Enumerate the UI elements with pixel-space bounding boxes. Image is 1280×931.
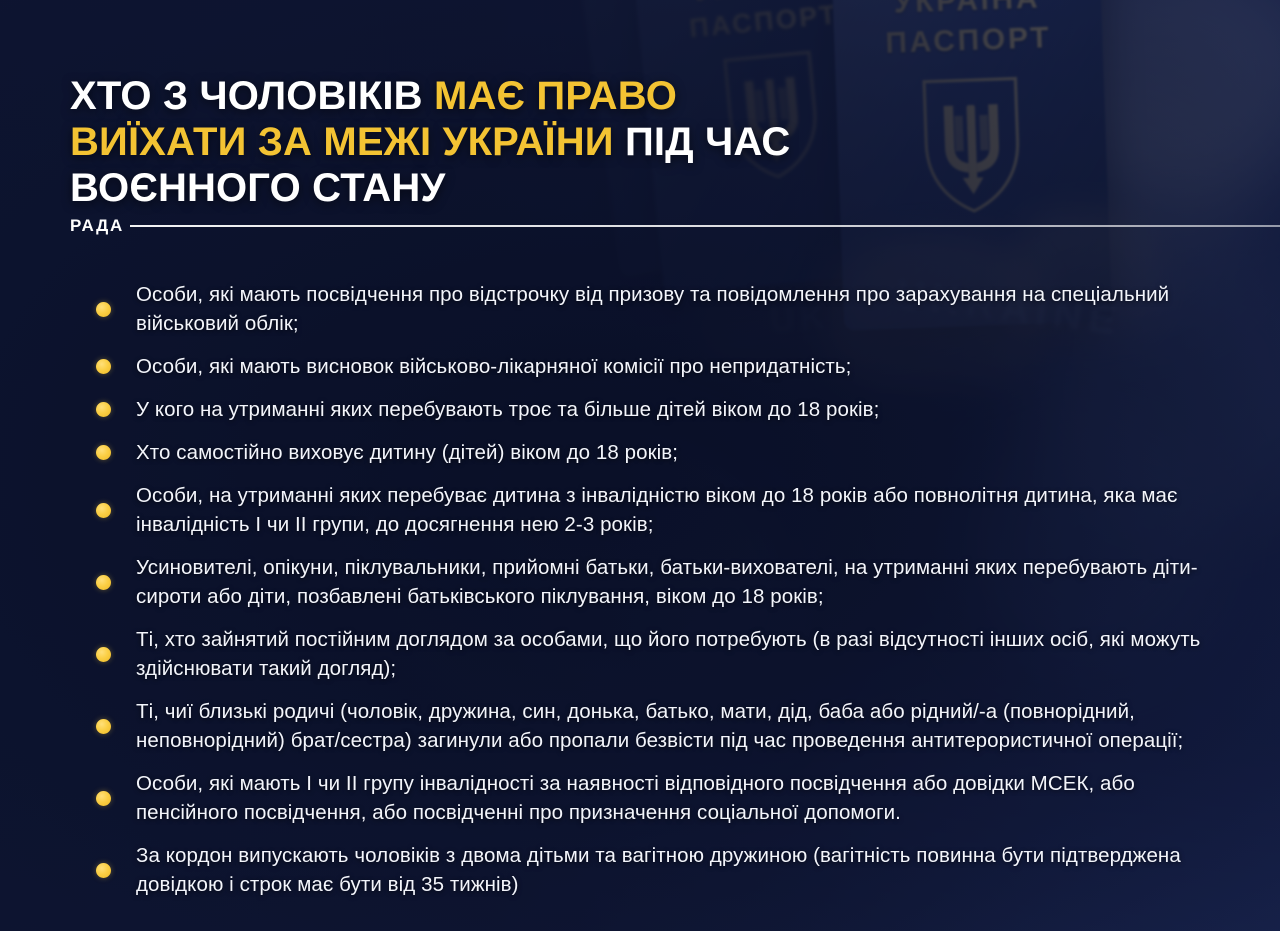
list-item: Хто самостійно виховує дитину (дітей) ві…	[96, 438, 1206, 467]
page-title: ХТО З ЧОЛОВІКІВ МАЄ ПРАВОВИЇХАТИ ЗА МЕЖІ…	[70, 73, 1070, 211]
list-item: Особи, які мають висновок військово-ліка…	[96, 352, 1206, 381]
list-item-text: У кого на утриманні яких перебувають тро…	[136, 395, 1206, 424]
poster-content: ХТО З ЧОЛОВІКІВ МАЄ ПРАВОВИЇХАТИ ЗА МЕЖІ…	[0, 0, 1280, 931]
list-item-text: Особи, які мають I чи II групу інвалідно…	[136, 769, 1206, 827]
page-title-segment: ВИЇХАТИ ЗА МЕЖІ УКРАЇНИ	[70, 120, 625, 164]
list-item: Усиновителі, опікуни, піклувальники, при…	[96, 553, 1206, 611]
list-item: Особи, на утриманні яких перебуває дитин…	[96, 481, 1206, 539]
list-item: У кого на утриманні яких перебувають тро…	[96, 395, 1206, 424]
list-item-text: Ті, чиї близькі родичі (чоловік, дружина…	[136, 697, 1206, 755]
list-item-text: Особи, на утриманні яких перебуває дитин…	[136, 481, 1206, 539]
bullet-dot-icon	[96, 863, 111, 878]
list-item-text: За кордон випускають чоловіків з двома д…	[136, 841, 1206, 899]
list-item-text: Особи, які мають висновок військово-ліка…	[136, 352, 1206, 381]
bullet-dot-icon	[96, 575, 111, 590]
page-title-segment: ВОЄННОГО СТАНУ	[70, 166, 445, 210]
bullet-dot-icon	[96, 302, 111, 317]
list-item: За кордон випускають чоловіків з двома д…	[96, 841, 1206, 899]
page-title-segment: ХТО З ЧОЛОВІКІВ	[70, 74, 434, 118]
bullet-dot-icon	[96, 445, 111, 460]
brand-row: РАДА	[70, 215, 1280, 237]
brand-label: РАДА	[70, 216, 124, 236]
list-item-text: Усиновителі, опікуни, піклувальники, при…	[136, 553, 1206, 611]
bullet-dot-icon	[96, 719, 111, 734]
list-item: Особи, які мають посвідчення про відстро…	[96, 280, 1206, 338]
infographic-poster: УКРАЇНА ПАСПОРТ	[0, 0, 1280, 931]
bullet-dot-icon	[96, 359, 111, 374]
brand-divider	[130, 225, 1280, 227]
list-item-text: Особи, які мають посвідчення про відстро…	[136, 280, 1206, 338]
bullet-dot-icon	[96, 402, 111, 417]
bullet-dot-icon	[96, 647, 111, 662]
list-item: Ті, хто зайнятий постійним доглядом за о…	[96, 625, 1206, 683]
list-item: Особи, які мають I чи II групу інвалідно…	[96, 769, 1206, 827]
page-title-segment: ПІД ЧАС	[625, 120, 790, 164]
page-title-segment: МАЄ ПРАВО	[434, 74, 677, 118]
bullet-dot-icon	[96, 791, 111, 806]
bullet-dot-icon	[96, 503, 111, 518]
list-item-text: Хто самостійно виховує дитину (дітей) ві…	[136, 438, 1206, 467]
eligibility-list: Особи, які мають посвідчення про відстро…	[96, 280, 1206, 913]
list-item: Ті, чиї близькі родичі (чоловік, дружина…	[96, 697, 1206, 755]
list-item-text: Ті, хто зайнятий постійним доглядом за о…	[136, 625, 1206, 683]
